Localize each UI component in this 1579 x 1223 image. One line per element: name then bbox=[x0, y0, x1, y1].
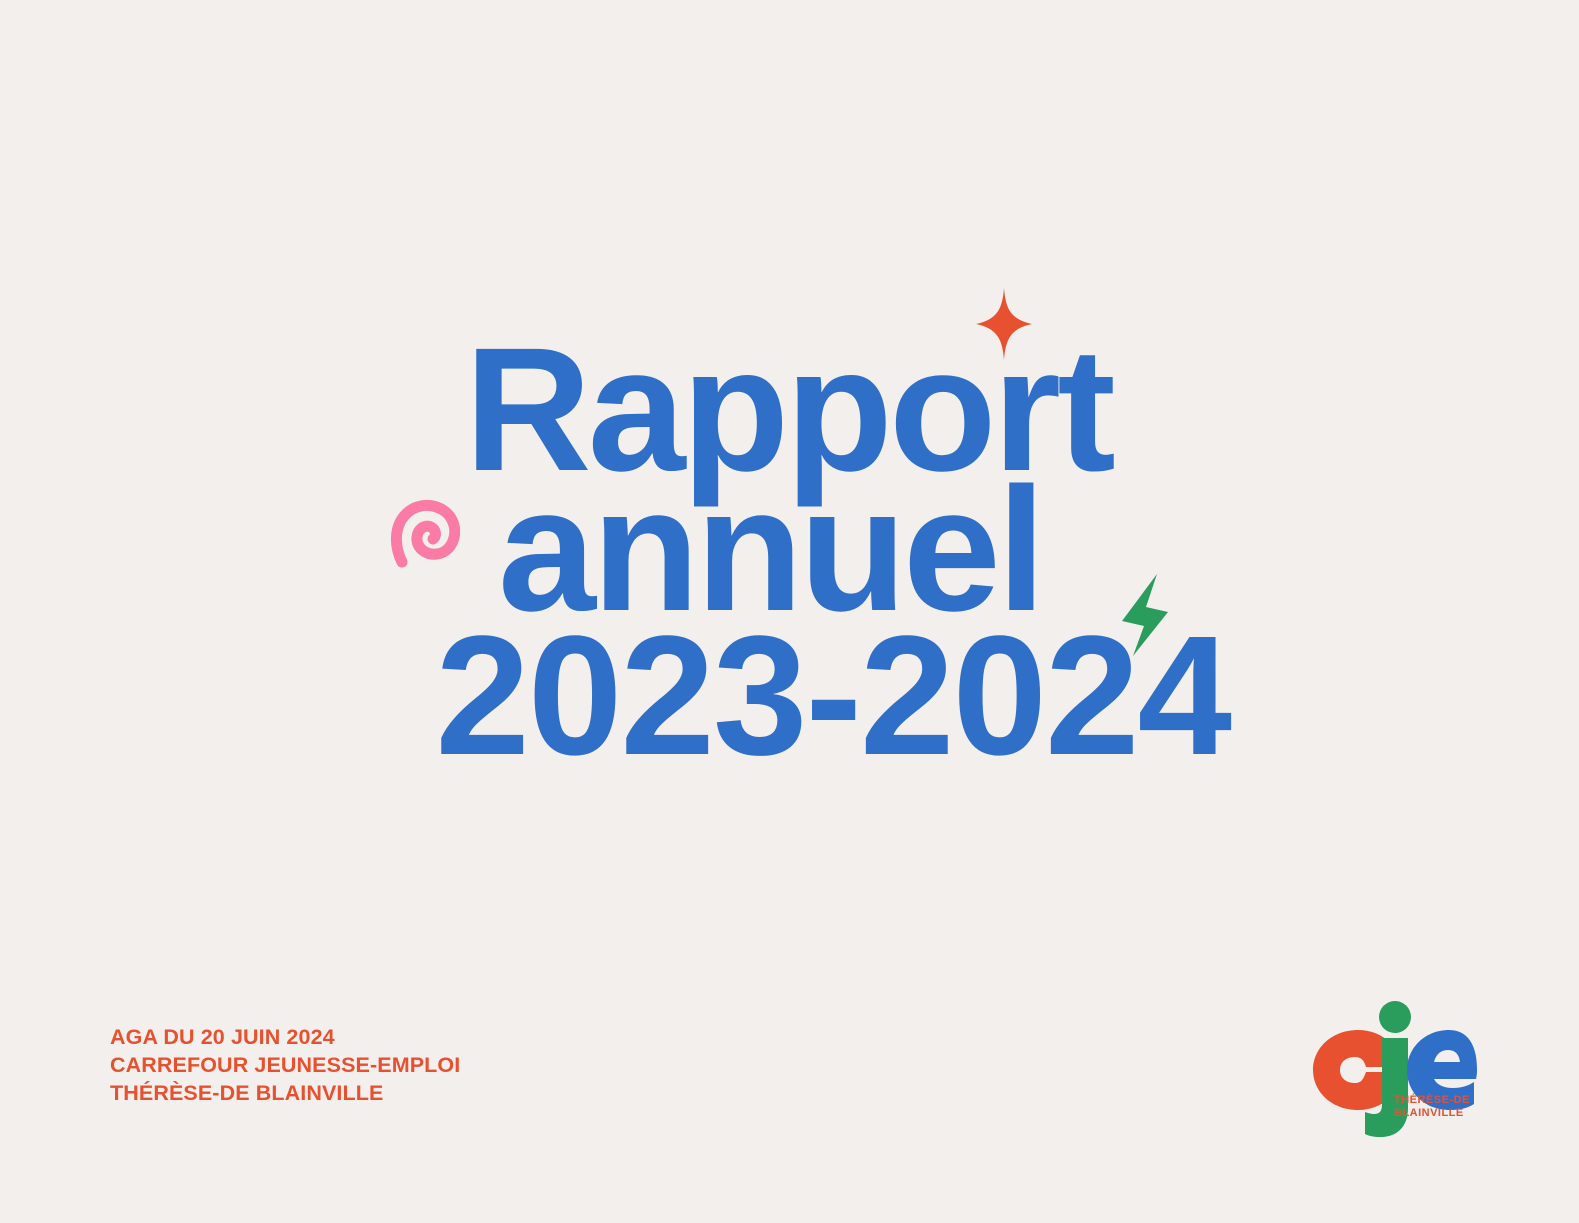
cover-title: Rapport annuel 2023-2024 bbox=[0, 330, 1230, 774]
organization-name-line: CARREFOUR JEUNESSE-EMPLOI bbox=[110, 1052, 460, 1080]
report-cover-page: Rapport annuel 2023-2024 AGA DU 20 JUIN … bbox=[0, 0, 1579, 1223]
title-line-years: 2023-2024 bbox=[0, 618, 1230, 774]
logo-wordmark-line2: BLAINVILLE bbox=[1394, 1107, 1470, 1120]
organization-region-line: THÉRÈSE-DE BLAINVILLE bbox=[110, 1080, 460, 1108]
spiral-swirl-icon bbox=[388, 496, 460, 568]
logo-letter-c-shape bbox=[1313, 1030, 1387, 1110]
event-date-line: AGA DU 20 JUIN 2024 bbox=[110, 1024, 460, 1052]
logo-wordmark-line1: THÉRÈSE-DE bbox=[1394, 1094, 1470, 1107]
logo-wordmark: THÉRÈSE-DE BLAINVILLE bbox=[1394, 1094, 1470, 1120]
cje-logo: THÉRÈSE-DE BLAINVILLE bbox=[1306, 1000, 1478, 1142]
lightning-bolt-icon bbox=[1120, 574, 1170, 656]
event-info: AGA DU 20 JUIN 2024 CARREFOUR JEUNESSE-E… bbox=[110, 1024, 460, 1108]
